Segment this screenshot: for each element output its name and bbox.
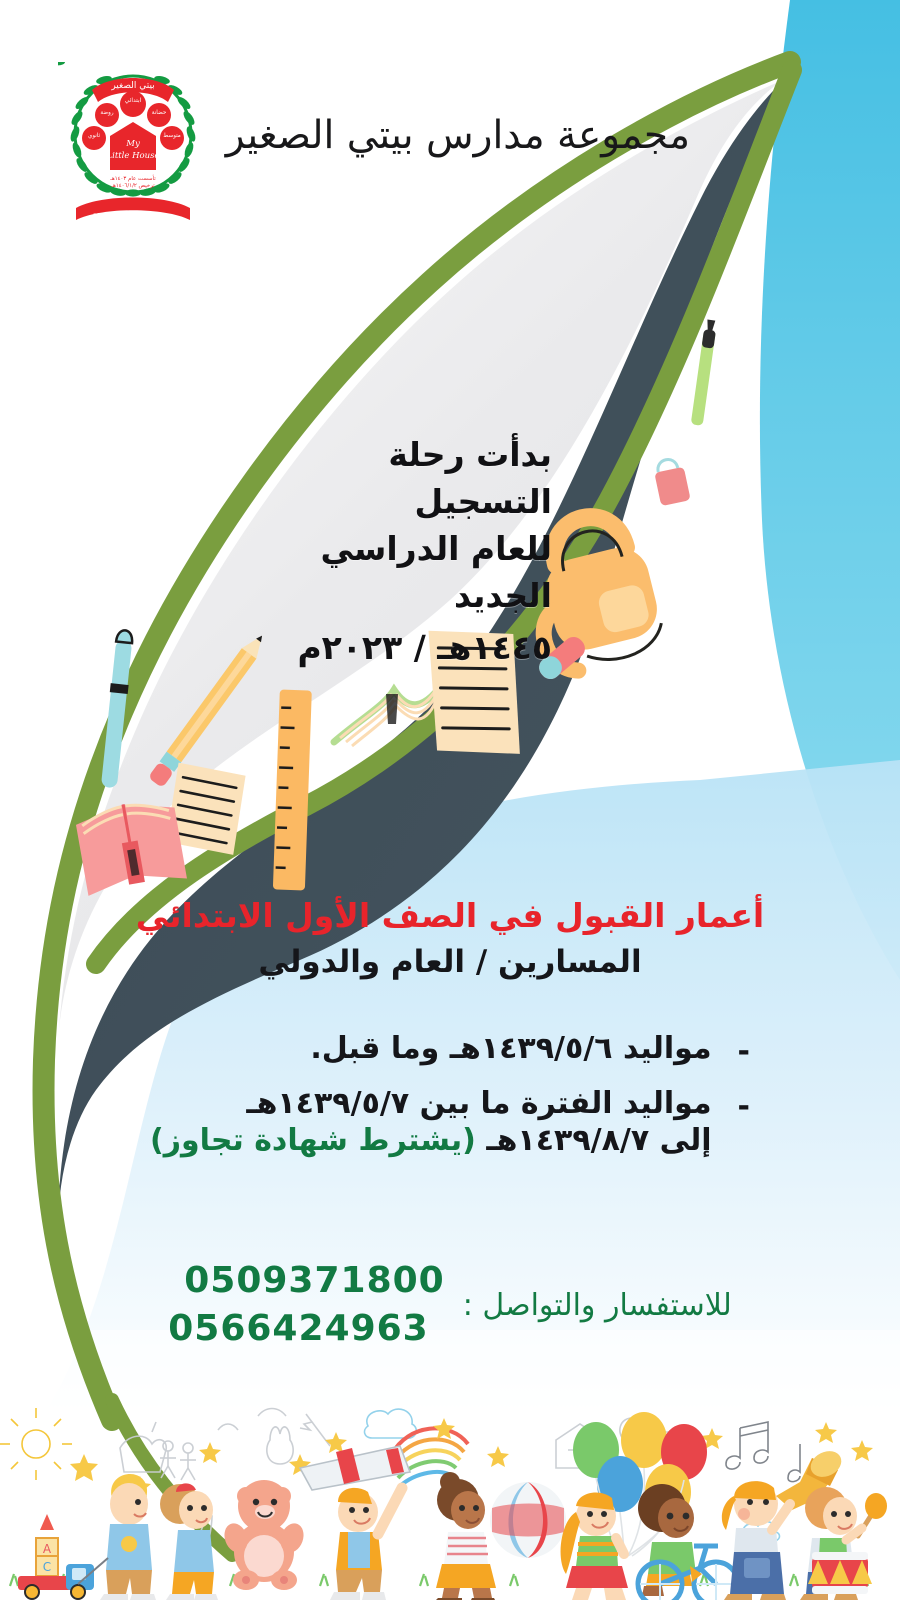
svg-text:C: C [43, 1560, 51, 1574]
drum-icon [808, 1552, 872, 1594]
children-illustration-band: A C [0, 0, 900, 1600]
poster-canvas: بيتي الصغير My Little House ابتدائي روضة… [0, 0, 900, 1600]
svg-text:A: A [43, 1542, 52, 1556]
